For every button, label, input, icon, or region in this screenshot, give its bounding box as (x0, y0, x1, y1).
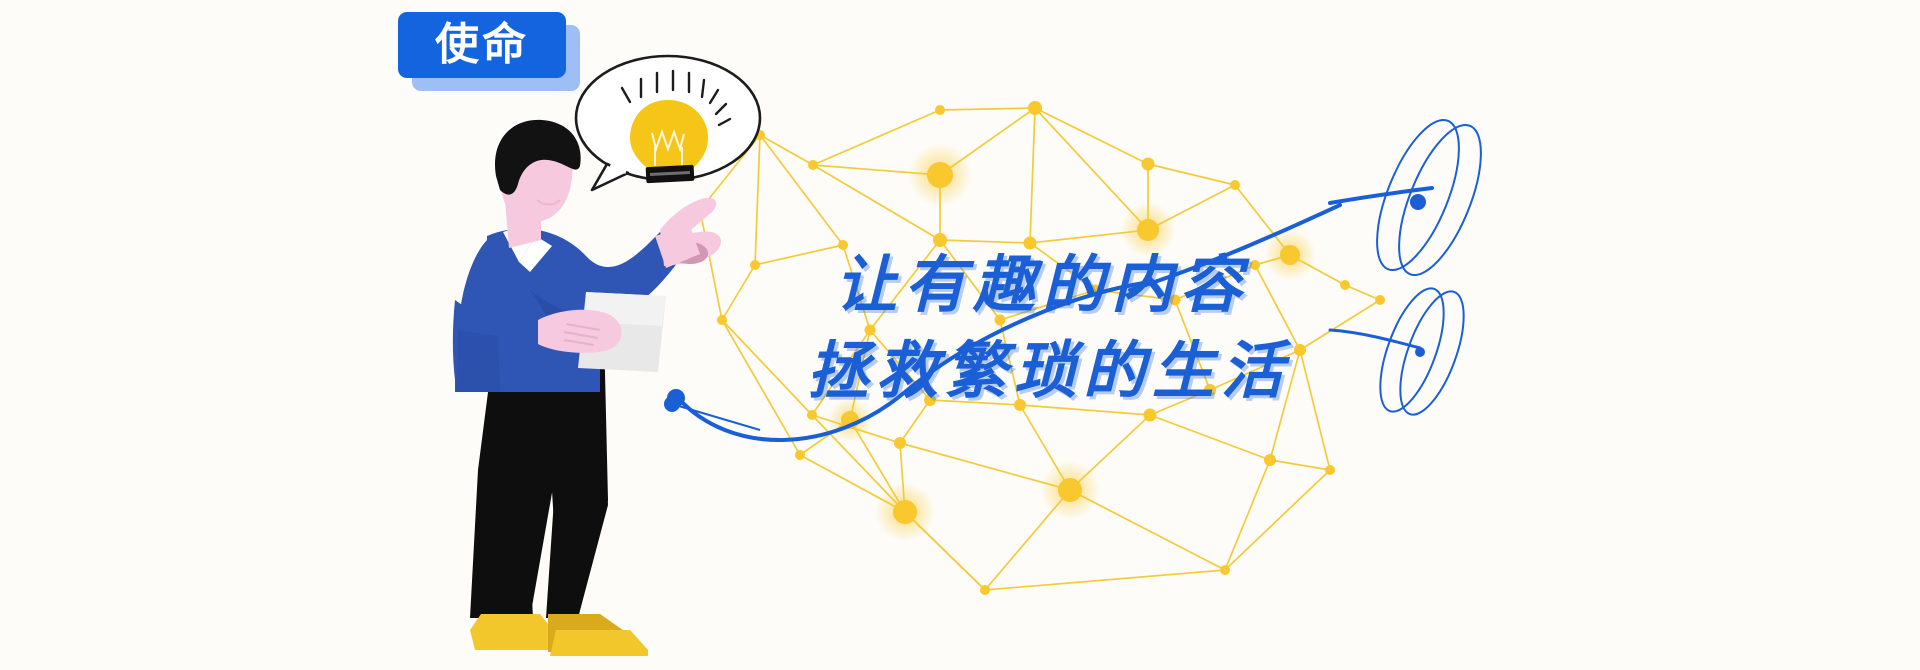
mission-badge: 使命 (398, 12, 580, 92)
section-badge-layer: 使命 (0, 0, 1920, 670)
badge-face: 使命 (398, 12, 566, 78)
badge-label: 使命 (435, 23, 529, 67)
mission-banner: 让有趣的内容 拯救繁琐的生活 使命 (0, 0, 1920, 670)
